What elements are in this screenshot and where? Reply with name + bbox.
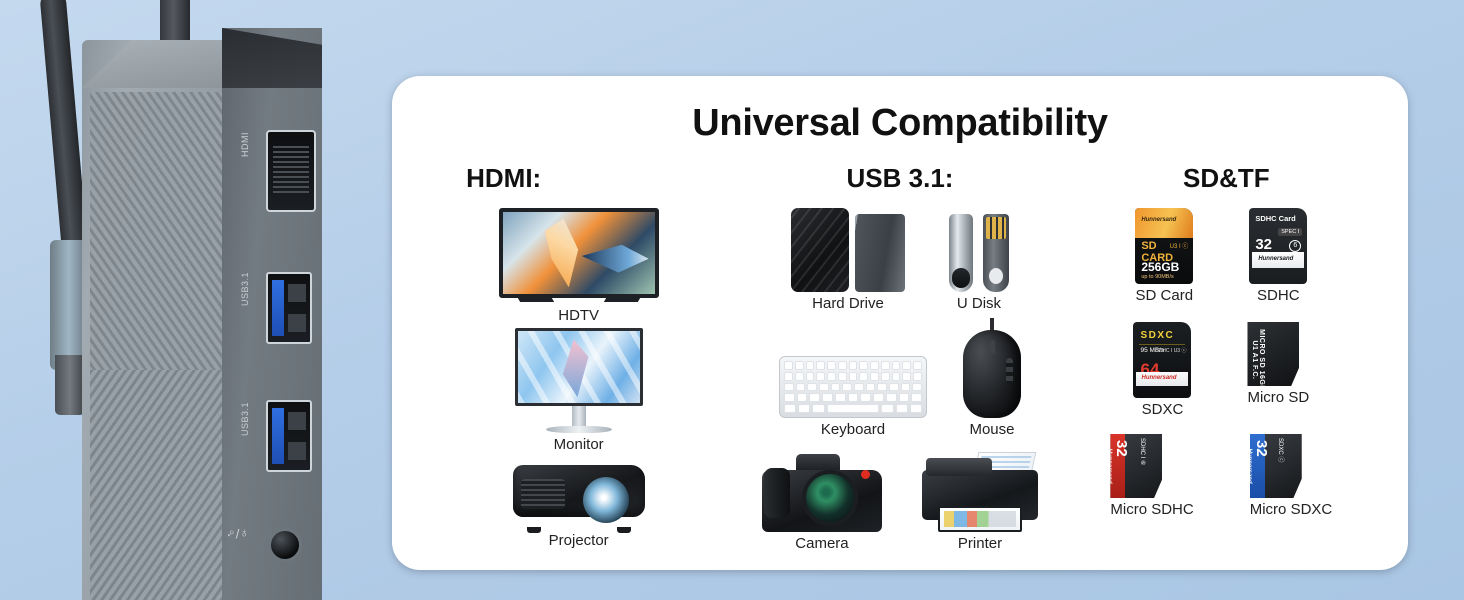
sd-card-capacity: 256GB bbox=[1141, 260, 1179, 274]
micro-sdhc-card-icon: Hunnersand 32 SDHC I ⑥ bbox=[1110, 434, 1162, 498]
compatibility-card: Universal Compatibility HDMI: HDTV bbox=[392, 76, 1408, 570]
list-item: Monitor bbox=[515, 328, 643, 453]
usb31-port-1 bbox=[266, 272, 312, 344]
list-item: HDTV bbox=[499, 208, 659, 324]
projector-feet bbox=[527, 527, 631, 533]
monitor-neck bbox=[572, 406, 586, 426]
list-item: Hunnersand 32 SDHC I ⑥ Micro SDHC bbox=[1110, 434, 1193, 518]
keyboard-row bbox=[784, 383, 922, 392]
hdmi-device-list: HDTV Monitor bbox=[418, 208, 739, 549]
list-item-label: Micro SD bbox=[1247, 389, 1309, 406]
monitor-icon bbox=[515, 328, 643, 433]
list-item-label: Projector bbox=[513, 532, 645, 549]
micro-sdxc-brand: Hunnersand bbox=[1250, 440, 1252, 492]
hdmi-port bbox=[266, 130, 316, 212]
sdxc-card-icon: SDXC 95 MB/s SDHC I U3 ⓒ 64 Hunnersand bbox=[1133, 322, 1191, 398]
column-usb: USB 3.1: Hard Drive U Disk bbox=[739, 163, 1060, 552]
usb-tongue bbox=[288, 412, 306, 430]
usb-flash-drive-icon bbox=[949, 214, 1009, 292]
column-title-usb: USB 3.1: bbox=[739, 163, 1060, 194]
list-item-label: Micro SDXC bbox=[1250, 501, 1333, 518]
hard-drive-black bbox=[791, 208, 849, 292]
usb-row-3: Camera Printer bbox=[739, 452, 1060, 552]
product-photo: HDMI USB3.1 USB3.1 ♀/♂ bbox=[0, 0, 360, 600]
sdhc-card-icon: SDHC Card SPEC I 32 6 Hunnersand bbox=[1249, 208, 1307, 284]
keyboard-row bbox=[784, 404, 922, 413]
sd-card-badges: U3 I ⓒ bbox=[1170, 241, 1189, 250]
list-item-label: Keyboard bbox=[779, 421, 927, 438]
column-sd: SD&TF Hunnersand SD CARD U3 I ⓒ 256GB up… bbox=[1061, 163, 1382, 552]
list-item-label: Monitor bbox=[515, 436, 643, 453]
sd-card-icon: Hunnersand SD CARD U3 I ⓒ 256GB up to 90… bbox=[1135, 208, 1193, 284]
projector-icon bbox=[513, 457, 645, 529]
list-item: MICRO SD 16GB U1 A1 F.C. Micro SD bbox=[1247, 322, 1309, 418]
hdtv-stand bbox=[519, 298, 639, 306]
sdhc-card-badge: SPEC I bbox=[1278, 228, 1302, 236]
list-item: Camera bbox=[762, 454, 882, 552]
usb-row-2: Keyboard Mouse bbox=[739, 330, 1060, 438]
printer-scanner-lid bbox=[926, 458, 992, 476]
list-item: Hunnersand SD CARD U3 I ⓒ 256GB up to 90… bbox=[1135, 208, 1193, 304]
list-item: Hunnersand 32 SDXC ⓒ Micro SDXC bbox=[1250, 434, 1333, 518]
sd-row-2: SDXC 95 MB/s SDHC I U3 ⓒ 64 Hunnersand S… bbox=[1061, 322, 1382, 418]
keyboard-row bbox=[784, 361, 922, 370]
usb-c-connector-tip bbox=[55, 355, 85, 415]
sd-card-speed: up to 90MB/s bbox=[1141, 274, 1173, 280]
hdtv-screen bbox=[499, 208, 659, 298]
usb-blue-insert bbox=[272, 280, 284, 336]
keyboard-row bbox=[784, 372, 922, 381]
audio-jack bbox=[268, 528, 302, 562]
column-hdmi: HDMI: HDTV Monitor bbox=[418, 163, 739, 552]
sdhc-card-class: 6 bbox=[1289, 240, 1301, 252]
sdxc-card-badges: SDHC I U3 ⓒ bbox=[1155, 347, 1186, 354]
sd-card-brand: Hunnersand bbox=[1141, 217, 1176, 223]
printer-icon bbox=[922, 452, 1038, 532]
list-item: SDXC 95 MB/s SDHC I U3 ⓒ 64 Hunnersand S… bbox=[1133, 322, 1191, 418]
usb-tongue bbox=[288, 284, 306, 302]
usb-tongue-lower bbox=[288, 314, 306, 332]
camera-lens bbox=[802, 470, 858, 526]
list-item-label: SDXC bbox=[1133, 401, 1191, 418]
dock-texture-lower bbox=[90, 370, 244, 600]
hdtv-icon bbox=[499, 208, 659, 304]
list-item: U Disk bbox=[949, 214, 1009, 312]
list-item: Mouse bbox=[963, 330, 1021, 438]
sdxc-card-brand-band: Hunnersand bbox=[1136, 372, 1188, 386]
compatibility-columns: HDMI: HDTV Monitor bbox=[392, 145, 1408, 552]
monitor-screen bbox=[515, 328, 643, 406]
projector-vents bbox=[521, 479, 565, 509]
hard-drive-gray bbox=[855, 214, 905, 292]
page-title: Universal Compatibility bbox=[392, 76, 1408, 145]
u-disk-dark bbox=[983, 214, 1009, 292]
sdxc-card-title: SDXC bbox=[1140, 330, 1174, 341]
micro-sdhc-capacity: 32 bbox=[1113, 440, 1130, 457]
sdxc-card-brand: Hunnersand bbox=[1141, 375, 1176, 381]
sd-row-3: Hunnersand 32 SDHC I ⑥ Micro SDHC Hunner… bbox=[1061, 434, 1382, 518]
list-item-label: SDHC bbox=[1249, 287, 1307, 304]
sdhc-card-capacity: 32 bbox=[1255, 236, 1272, 253]
sd-card-top-band bbox=[1135, 208, 1193, 238]
sdhc-card-label-strip: Hunnersand bbox=[1252, 252, 1304, 268]
list-item-label: HDTV bbox=[499, 307, 659, 324]
sdhc-card-title: SDHC Card bbox=[1255, 214, 1295, 223]
sd-card-kind: SD bbox=[1141, 240, 1156, 252]
camera-grip bbox=[764, 468, 790, 518]
audio-jack-label: ♀/♂ bbox=[226, 526, 249, 541]
keyboard-icon bbox=[779, 356, 927, 418]
hdmi-port-label: HDMI bbox=[240, 132, 250, 157]
list-item: Printer bbox=[922, 452, 1038, 552]
usb31-port-1-label: USB3.1 bbox=[240, 272, 250, 306]
camera-record-dot bbox=[861, 470, 870, 479]
projector-body bbox=[513, 465, 645, 517]
micro-sd-card-text: MICRO SD 16GB U1 A1 F.C. bbox=[1247, 328, 1265, 386]
usb31-port-2 bbox=[266, 400, 312, 472]
usb-tongue-lower bbox=[288, 442, 306, 460]
list-item: Hard Drive bbox=[791, 208, 905, 312]
hard-drive-icon bbox=[791, 208, 905, 292]
usb-blue-insert bbox=[272, 408, 284, 464]
list-item-label: Camera bbox=[762, 535, 882, 552]
monitor-base bbox=[546, 426, 612, 433]
micro-sdhc-kind: SDHC I ⑥ bbox=[1139, 438, 1146, 465]
micro-sdxc-capacity: 32 bbox=[1253, 440, 1270, 457]
u-disk-silver bbox=[949, 214, 973, 292]
list-item-label: Micro SDHC bbox=[1110, 501, 1193, 518]
micro-sd-card-icon: MICRO SD 16GB U1 A1 F.C. bbox=[1247, 322, 1299, 386]
mouse-icon bbox=[963, 330, 1021, 418]
mouse-side-buttons bbox=[1006, 358, 1013, 384]
list-item-label: Hard Drive bbox=[791, 295, 905, 312]
list-item-label: U Disk bbox=[949, 295, 1009, 312]
list-item-label: Printer bbox=[922, 535, 1038, 552]
mouse-scroll-wheel bbox=[990, 340, 995, 354]
list-item: SDHC Card SPEC I 32 6 Hunnersand SDHC bbox=[1249, 208, 1307, 304]
usb-row-1: Hard Drive U Disk bbox=[739, 208, 1060, 312]
sdhc-card-brand: Hunnersand bbox=[1258, 256, 1293, 262]
camera-icon bbox=[762, 454, 882, 532]
sd-row-1: Hunnersand SD CARD U3 I ⓒ 256GB up to 90… bbox=[1061, 208, 1382, 304]
micro-sdxc-card-icon: Hunnersand 32 SDXC ⓒ bbox=[1250, 434, 1302, 498]
projector-lens bbox=[583, 477, 629, 523]
list-item-label: SD Card bbox=[1135, 287, 1193, 304]
column-title-sd: SD&TF bbox=[1061, 163, 1382, 194]
micro-sdxc-kind: SDXC ⓒ bbox=[1277, 438, 1286, 462]
list-item-label: Mouse bbox=[963, 421, 1021, 438]
list-item: Keyboard bbox=[779, 356, 927, 438]
sdxc-card-rule bbox=[1139, 344, 1185, 345]
list-item: Projector bbox=[513, 457, 645, 549]
printer-output-tray bbox=[938, 506, 1022, 532]
usb31-port-2-label: USB3.1 bbox=[240, 402, 250, 436]
keyboard-row bbox=[784, 393, 922, 402]
column-title-hdmi: HDMI: bbox=[418, 163, 739, 194]
